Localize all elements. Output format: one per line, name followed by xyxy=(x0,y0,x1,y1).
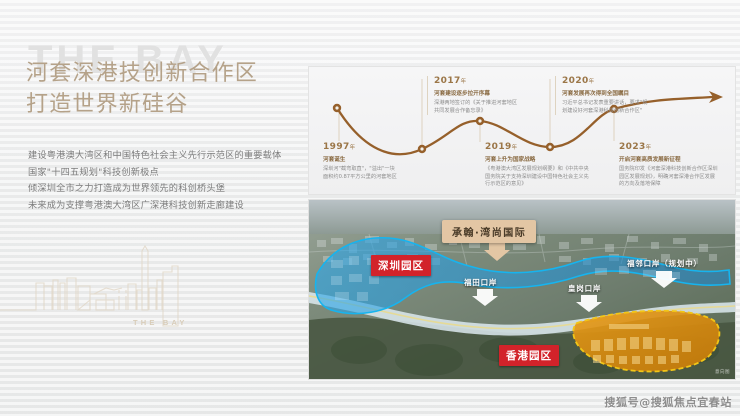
page-title-line-1: 河套深港技创新合作区 xyxy=(26,58,296,89)
bullet-item: 未来成为支撑粤港澳大湾区广深港科技创新走廊建设 xyxy=(28,198,296,215)
bullet-item: 国家"十四五规划"科技创新极点 xyxy=(28,165,296,182)
timeline-year: 2017年 xyxy=(434,76,538,88)
timeline-event-headline: 河套发展再次得到全国瞩目 xyxy=(562,90,666,98)
timeline-card: 1997年 河套诞生 深圳河"截弯取直"，"溢出"一块面积约0.87平方公里的河… xyxy=(308,66,736,195)
page-title-line-2: 打造世界新硅谷 xyxy=(26,89,296,120)
map-label-hongkong-zone: 香港园区 xyxy=(499,345,559,366)
skyline-label: THE BAY xyxy=(133,318,188,327)
timeline-event-body: 国务院印发《河套深港科技创新合作区深圳园区发展规划》，明确河套深港合作区发展的方… xyxy=(619,166,733,189)
timeline-event-2019: 2019年 河套上升为国家战略 《粤港澳大湾区发展规划纲要》和《中共中央国务院关… xyxy=(485,142,605,189)
aerial-map: 承翰·湾尚国际 深圳园区 香港园区 福田口岸 皇岗口岸 福邻口岸（规划中） 意向… xyxy=(308,199,736,380)
timeline-event-headline: 河套诞生 xyxy=(323,156,427,164)
timeline-event-headline: 河套建设逐步拉开序幕 xyxy=(434,90,538,98)
map-label-port-fulin: 福邻口岸（规划中） xyxy=(627,258,702,269)
timeline-event-2017: 2017年 河套建设逐步拉开序幕 深港两地签订的《关于推进河套地区共同发展合作备… xyxy=(427,76,538,115)
map-label-port-huanggang: 皇岗口岸 xyxy=(568,283,601,294)
timeline-event-body: 习近平总书记发表重要讲话，要求"规划建设好河套深港科技创新合作区" xyxy=(562,100,666,115)
timeline-event-2023: 2023年 开启河套高质发展新征程 国务院印发《河套深港科技创新合作区深圳园区发… xyxy=(619,142,733,189)
timeline-event-2020: 2020年 河套发展再次得到全国瞩目 习近平总书记发表重要讲话，要求"规划建设好… xyxy=(555,76,666,115)
map-label-project: 承翰·湾尚国际 xyxy=(442,220,536,243)
timeline-event-1997: 1997年 河套诞生 深圳河"截弯取直"，"溢出"一块面积约0.87平方公里的河… xyxy=(323,142,427,181)
timeline-year: 1997年 xyxy=(323,142,427,154)
map-credit: 意向图 xyxy=(715,369,730,375)
timeline-event-body: 深港两地签订的《关于推进河套地区共同发展合作备忘录》 xyxy=(434,100,538,115)
skyline-illustration xyxy=(0,238,300,358)
page-title: 河套深港技创新合作区 打造世界新硅谷 xyxy=(26,58,296,120)
timeline-event-body: 深圳河"截弯取直"，"溢出"一块面积约0.87平方公里的河套地区 xyxy=(323,166,427,181)
left-panel: THE BAY 河套深港技创新合作区 打造世界新硅谷 建设粤港澳大湾区和中国特色… xyxy=(0,0,300,416)
bullet-item: 建设粤港澳大湾区和中国特色社会主义先行示范区的重要载体 xyxy=(28,148,296,165)
slide-root: THE BAY 河套深港技创新合作区 打造世界新硅谷 建设粤港澳大湾区和中国特色… xyxy=(0,0,740,416)
watermark: 搜狐号@搜狐焦点宜春站 xyxy=(604,394,732,410)
timeline-event-headline: 河套上升为国家战略 xyxy=(485,156,605,164)
timeline-event-body: 《粤港澳大湾区发展规划纲要》和《中共中央国务院关于支持深圳建设中国特色社会主义先… xyxy=(485,166,605,189)
bullet-item: 倾深圳全市之力打造成为世界领先的科创桥头堡 xyxy=(28,181,296,198)
timeline-year: 2019年 xyxy=(485,142,605,154)
map-label-port-futian: 福田口岸 xyxy=(464,277,497,288)
bullet-list: 建设粤港澳大湾区和中国特色社会主义先行示范区的重要载体 国家"十四五规划"科技创… xyxy=(28,148,296,214)
right-panel: 1997年 河套诞生 深圳河"截弯取直"，"溢出"一块面积约0.87平方公里的河… xyxy=(303,0,740,416)
map-label-shenzhen-zone: 深圳园区 xyxy=(371,255,431,276)
timeline-year: 2023年 xyxy=(619,142,733,154)
timeline-year: 2020年 xyxy=(562,76,666,88)
timeline-event-headline: 开启河套高质发展新征程 xyxy=(619,156,733,164)
